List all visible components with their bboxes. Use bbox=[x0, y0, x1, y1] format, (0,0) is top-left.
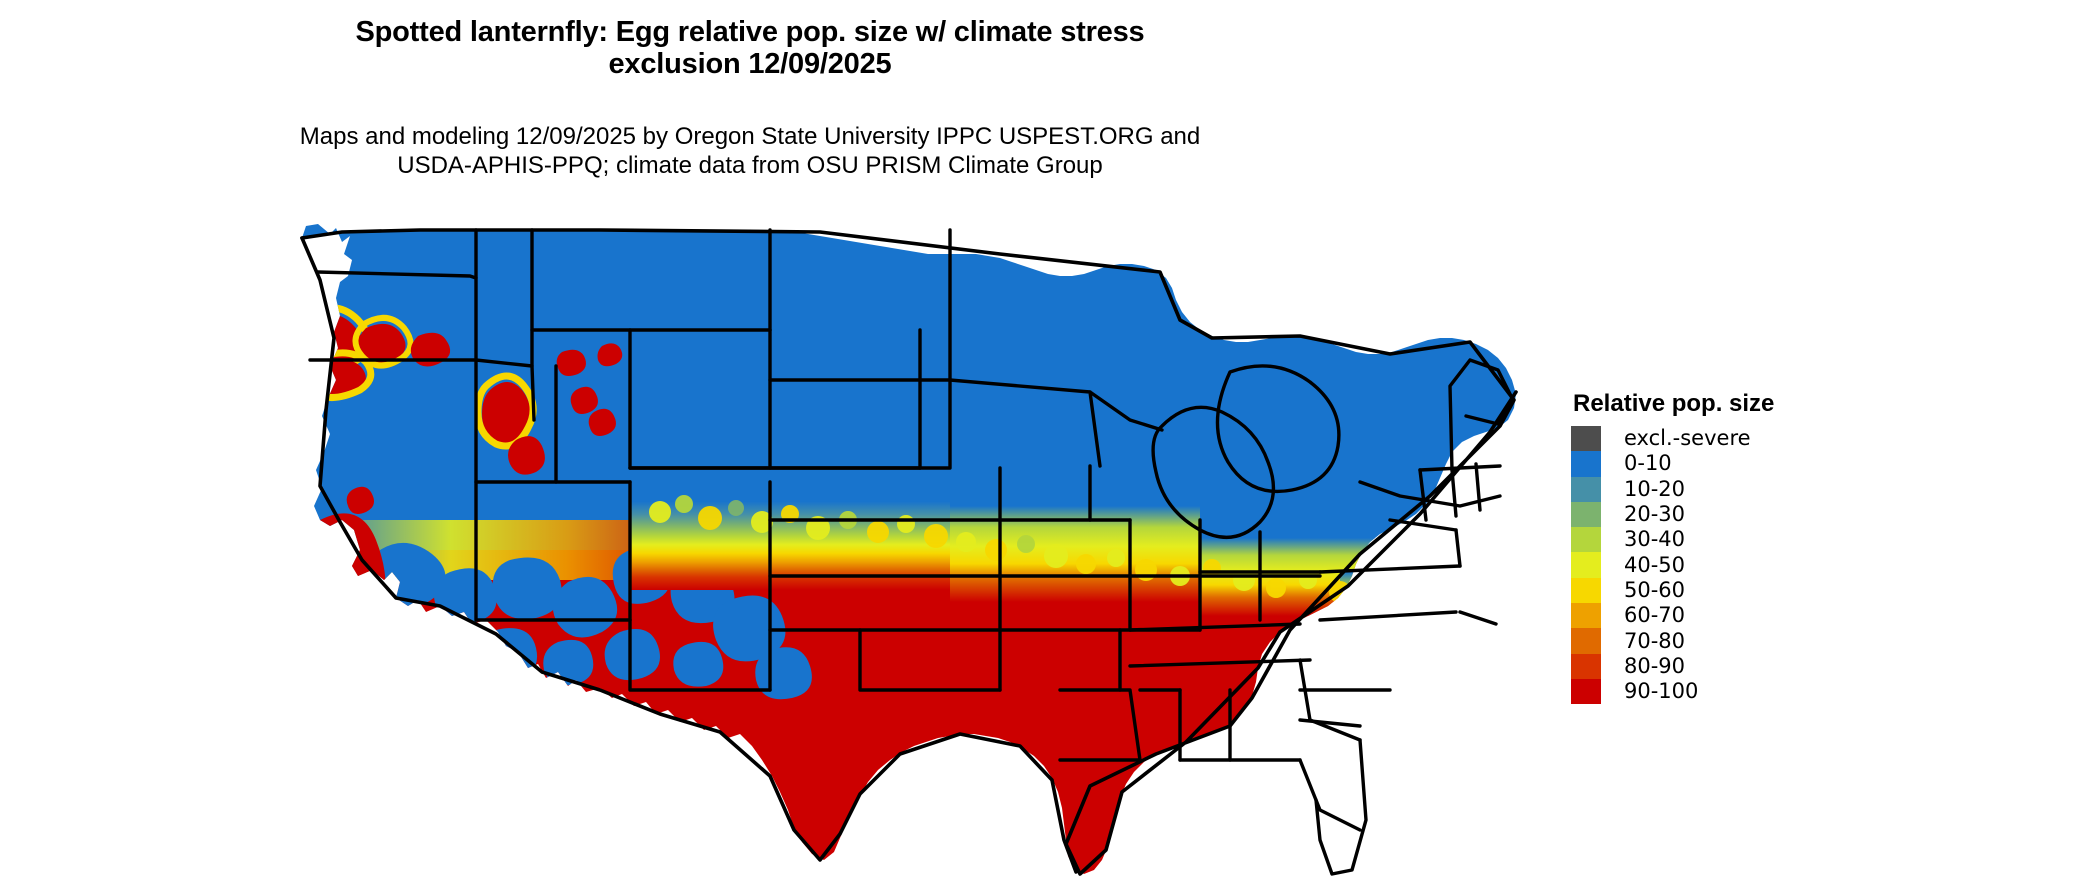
legend-swatch bbox=[1571, 477, 1601, 502]
legend-label: 80-90 bbox=[1624, 656, 1685, 677]
legend-title: Relative pop. size bbox=[1573, 390, 1774, 418]
legend-row[interactable]: 50-60 bbox=[1571, 578, 1774, 603]
legend-swatch bbox=[1571, 603, 1601, 628]
map-svg bbox=[300, 220, 1550, 880]
raster-transition-mid-atlantic bbox=[1340, 572, 1520, 642]
legend-swatch bbox=[1571, 628, 1601, 653]
legend-label: 10-20 bbox=[1624, 479, 1685, 500]
legend-swatch bbox=[1571, 679, 1601, 704]
legend-swatch bbox=[1571, 502, 1601, 527]
raster-appalachian-edge bbox=[1301, 635, 1402, 750]
raster-exclusion-severe bbox=[399, 734, 667, 880]
title-block: Spotted lanternfly: Egg relative pop. si… bbox=[0, 16, 1500, 81]
legend-label: 60-70 bbox=[1624, 605, 1685, 626]
legend-label: 40-50 bbox=[1624, 555, 1685, 576]
legend-items: excl.-severe0-1010-2020-3030-4040-5050-6… bbox=[1571, 426, 1774, 704]
legend-label: 20-30 bbox=[1624, 504, 1685, 525]
legend-label: excl.-severe bbox=[1624, 428, 1751, 449]
legend-row[interactable]: 10-20 bbox=[1571, 477, 1774, 502]
legend-label: 30-40 bbox=[1624, 529, 1685, 550]
legend-row[interactable]: 80-90 bbox=[1571, 654, 1774, 679]
legend-swatch bbox=[1571, 552, 1601, 577]
legend-row[interactable]: 40-50 bbox=[1571, 552, 1774, 577]
legend-label: 70-80 bbox=[1624, 631, 1685, 652]
legend-row[interactable]: 20-30 bbox=[1571, 502, 1774, 527]
page-title: Spotted lanternfly: Egg relative pop. si… bbox=[0, 16, 1500, 81]
legend-label: 0-10 bbox=[1624, 453, 1672, 474]
legend-label: 50-60 bbox=[1624, 580, 1685, 601]
legend-swatch bbox=[1571, 654, 1601, 679]
legend-row[interactable]: 0-10 bbox=[1571, 451, 1774, 476]
legend-swatch bbox=[1571, 527, 1601, 552]
figure-subtitle: Maps and modeling 12/09/2025 by Oregon S… bbox=[0, 122, 1500, 181]
raster-appalachian-ridges bbox=[1262, 642, 1391, 815]
legend-row[interactable]: 70-80 bbox=[1571, 628, 1774, 653]
legend-row[interactable]: 90-100 bbox=[1571, 679, 1774, 704]
legend-label: 90-100 bbox=[1624, 681, 1698, 702]
figure-canvas: Spotted lanternfly: Egg relative pop. si… bbox=[0, 0, 2100, 892]
legend-row[interactable]: 30-40 bbox=[1571, 527, 1774, 552]
subtitle-block: Maps and modeling 12/09/2025 by Oregon S… bbox=[0, 122, 1500, 181]
legend-swatch bbox=[1571, 578, 1601, 603]
legend-swatch bbox=[1571, 426, 1601, 451]
legend: Relative pop. size excl.-severe0-1010-20… bbox=[1571, 390, 1774, 704]
legend-swatch bbox=[1571, 451, 1601, 476]
legend-row[interactable]: excl.-severe bbox=[1571, 426, 1774, 451]
legend-row[interactable]: 60-70 bbox=[1571, 603, 1774, 628]
choropleth-map bbox=[300, 220, 1550, 880]
